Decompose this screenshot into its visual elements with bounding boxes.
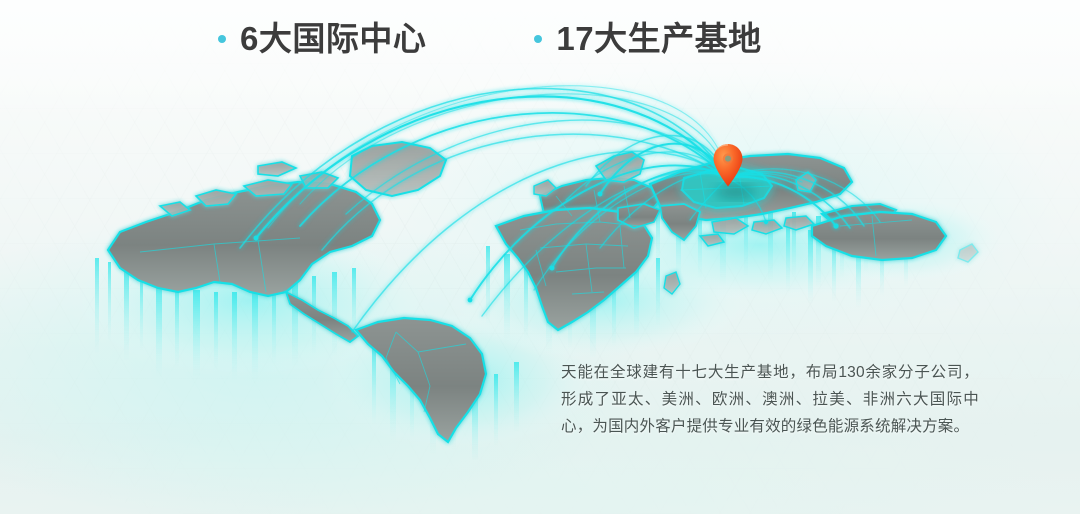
- node-africa: [550, 266, 555, 271]
- node-north-america: [254, 236, 259, 241]
- headline-production-bases: 17大生产基地: [534, 22, 761, 55]
- headline-international-centers: 6大国际中心: [218, 22, 426, 55]
- node-europe: [598, 192, 603, 197]
- headline-label: 17大生产基地: [556, 22, 761, 55]
- bullet-dot-icon: [218, 35, 226, 43]
- headline-row: 6大国际中心 17大生产基地: [218, 22, 762, 55]
- global-network-slide: 6大国际中心 17大生产基地 天能在全球建有十七大生产基地，布局130余家分子公…: [0, 0, 1080, 514]
- description-paragraph: 天能在全球建有十七大生产基地，布局130余家分子公司，形成了亚太、美洲、欧洲、澳…: [561, 359, 979, 440]
- headline-label: 6大国际中心: [240, 22, 426, 55]
- node-australia: [833, 223, 838, 228]
- node-south-america: [468, 298, 473, 303]
- bullet-dot-icon: [534, 35, 542, 43]
- node-asia: [764, 220, 768, 224]
- location-pin-icon[interactable]: [712, 143, 744, 188]
